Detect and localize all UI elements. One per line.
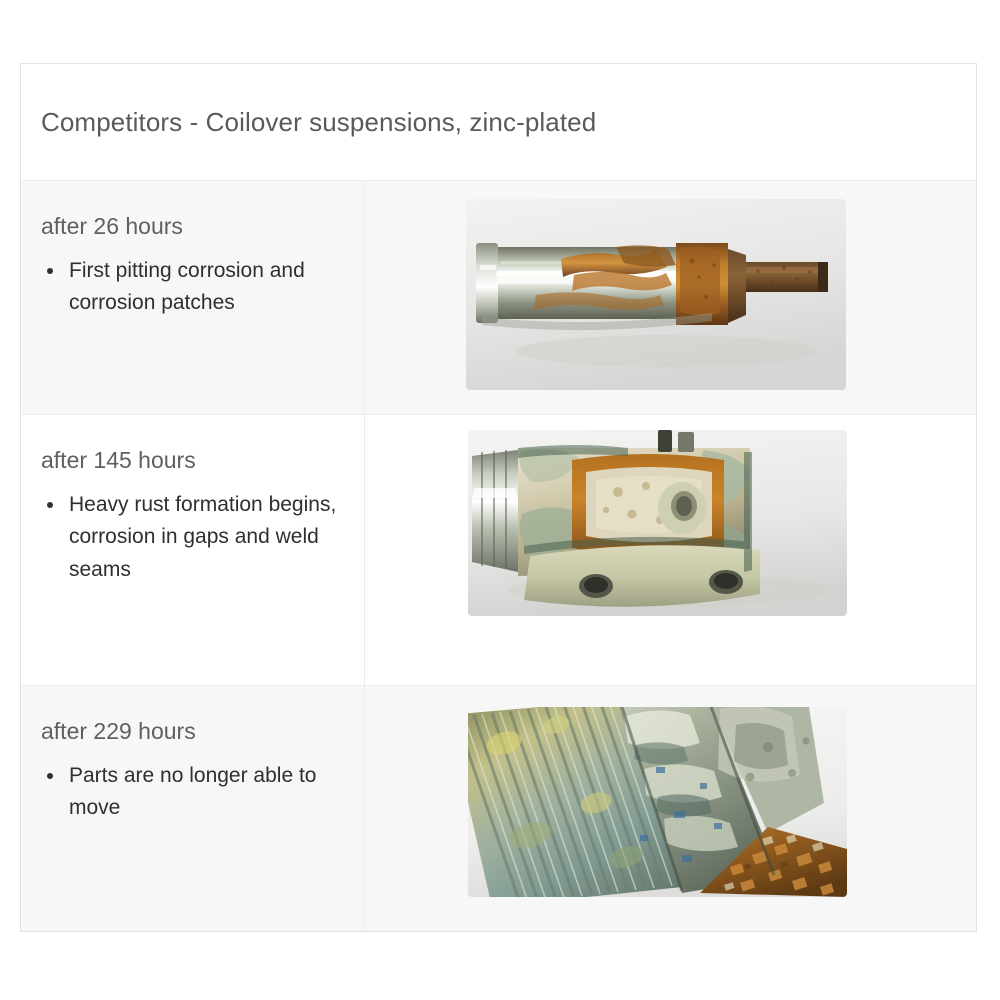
comparison-card: Competitors - Coilover suspensions, zinc… [20,63,977,932]
list-item-label: Heavy rust formation begins, corrosion i… [69,493,336,581]
bullet-dot-icon [47,773,53,779]
photo-artwork [468,707,847,897]
bullet-list: Heavy rust formation begins, corrosion i… [41,489,344,587]
corroded-mounting-bracket-photo [468,430,847,616]
list-item-label: First pitting corrosion and corrosion pa… [69,259,305,315]
table-row: after 145 hours Heavy rust formation beg… [21,414,976,685]
corroded-threaded-spring-seat-photo [468,707,847,897]
photo-artwork [468,430,847,616]
bullet-list: First pitting corrosion and corrosion pa… [41,255,344,320]
card-header: Competitors - Coilover suspensions, zinc… [21,64,976,180]
stage-label: after 26 hours [41,213,344,241]
list-item: Parts are no longer able to move [41,760,344,825]
bullet-dot-icon [47,268,53,274]
row-media-cell [365,686,976,931]
list-item: First pitting corrosion and corrosion pa… [41,255,344,320]
corroded-shock-absorber-rod-photo [466,199,846,390]
row-text-cell: after 26 hours First pitting corrosion a… [21,181,365,414]
list-item-label: Parts are no longer able to move [69,764,317,820]
row-text-cell: after 145 hours Heavy rust formation beg… [21,415,365,685]
list-item: Heavy rust formation begins, corrosion i… [41,489,344,587]
page-root: Competitors - Coilover suspensions, zinc… [0,0,1000,1000]
row-text-cell: after 229 hours Parts are no longer able… [21,686,365,931]
row-media-cell [365,181,976,414]
stage-label: after 229 hours [41,718,344,746]
stage-label: after 145 hours [41,447,344,475]
page-title: Competitors - Coilover suspensions, zinc… [41,107,596,138]
bullet-list: Parts are no longer able to move [41,760,344,825]
table-row: after 26 hours First pitting corrosion a… [21,180,976,414]
row-media-cell [365,415,976,685]
bullet-dot-icon [47,502,53,508]
photo-artwork [466,199,846,390]
table-row: after 229 hours Parts are no longer able… [21,685,976,931]
